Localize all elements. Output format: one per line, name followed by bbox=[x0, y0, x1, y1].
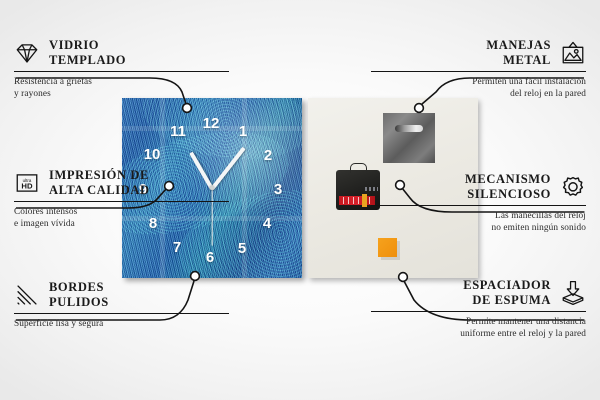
clock-numeral-1: 1 bbox=[234, 124, 252, 139]
feature-title: MECANISMO SILENCIOSO bbox=[465, 172, 551, 202]
feature-description: Resistencia a grietasy rayones bbox=[14, 72, 229, 101]
feature-title: ESPACIADOR DE ESPUMA bbox=[463, 278, 551, 308]
feature-title: BORDES PULIDOS bbox=[49, 280, 109, 310]
svg-text:HD: HD bbox=[21, 181, 33, 190]
clock-numeral-4: 4 bbox=[258, 216, 276, 231]
gear-icon bbox=[560, 174, 586, 200]
battery-indicator bbox=[362, 194, 367, 207]
clock-numeral-5: 5 bbox=[233, 241, 251, 256]
diamond-icon bbox=[14, 40, 40, 66]
feature-bordes-pulidos: BORDES PULIDOS Superficie lisa y segura bbox=[14, 280, 229, 330]
foam-spacer-pad bbox=[378, 238, 397, 257]
infographic-canvas: 12 1 2 3 4 5 6 7 8 9 10 11 bbox=[0, 0, 600, 400]
metal-hanger-plate bbox=[383, 113, 435, 163]
clock-numeral-6: 6 bbox=[201, 250, 219, 265]
mechanism-hanging-loop bbox=[350, 163, 367, 173]
feature-description: Colores intensose imagen vívida bbox=[14, 202, 229, 231]
battery-compartment-label bbox=[339, 196, 375, 205]
clock-numeral-11: 11 bbox=[169, 124, 187, 139]
feature-title: IMPRESIÓN DE ALTA CALIDAD bbox=[49, 168, 150, 198]
feature-description: Permiten una fácil instalacióndel reloj … bbox=[371, 72, 586, 101]
clock-numeral-10: 10 bbox=[143, 147, 161, 162]
feature-impresion-alta-calidad: ultra HD IMPRESIÓN DE ALTA CALIDAD Color… bbox=[14, 168, 229, 231]
clock-numeral-2: 2 bbox=[259, 148, 277, 163]
feature-mecanismo-silencioso: MECANISMO SILENCIOSO Las manecillas del … bbox=[371, 172, 586, 235]
feature-vidrio-templado: VIDRIO TEMPLADO Resistencia a grietasy r… bbox=[14, 38, 229, 101]
feature-description: Las manecillas del relojno emiten ningún… bbox=[371, 206, 586, 235]
clock-numeral-3: 3 bbox=[269, 182, 287, 197]
polished-edges-icon bbox=[14, 282, 40, 308]
feature-title: MANEJAS METAL bbox=[486, 38, 551, 68]
clock-numeral-12: 12 bbox=[202, 116, 220, 131]
foam-spacer-arrow-icon bbox=[560, 280, 586, 306]
clock-numeral-7: 7 bbox=[168, 240, 186, 255]
feature-manejas-metal: MANEJAS METAL Permiten una fácil instala… bbox=[371, 38, 586, 101]
picture-frame-hanger-icon bbox=[560, 40, 586, 66]
feature-title: VIDRIO TEMPLADO bbox=[49, 38, 126, 68]
feature-description: Superficie lisa y segura bbox=[14, 314, 229, 331]
ultra-hd-icon: ultra HD bbox=[14, 170, 40, 196]
feature-espaciador-espuma: ESPACIADOR DE ESPUMA Permite mantener un… bbox=[371, 278, 586, 341]
feature-description: Permite mantener una distanciauniforme e… bbox=[371, 312, 586, 341]
hanger-keyhole-slot bbox=[395, 125, 423, 132]
